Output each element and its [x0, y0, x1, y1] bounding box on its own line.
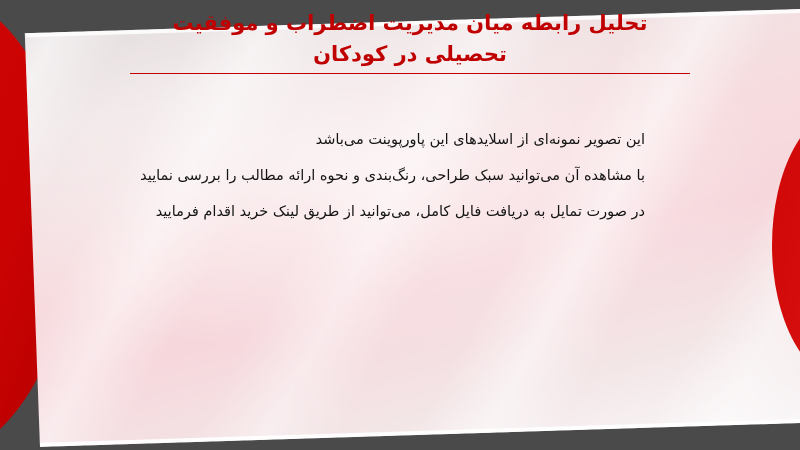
title-underline-rule — [130, 73, 690, 74]
slide-title-line-2: تحصیلی در کودکان — [120, 39, 700, 70]
slide-title: تحلیل رابطه میان مدیریت اضطراب و موفقیت … — [120, 8, 700, 70]
body-line-3: در صورت تمایل به دریافت فایل کامل، می‌تو… — [125, 194, 645, 230]
body-line-1: این تصویر نمونه‌ای از اسلایدهای این پاور… — [125, 122, 645, 158]
slide-title-line-1: تحلیل رابطه میان مدیریت اضطراب و موفقیت — [120, 8, 700, 39]
presentation-slide: تحلیل رابطه میان مدیریت اضطراب و موفقیت … — [0, 0, 800, 450]
body-line-2: با مشاهده آن می‌توانید سبک طراحی، رنگ‌بن… — [125, 158, 645, 194]
slide-body-text: این تصویر نمونه‌ای از اسلایدهای این پاور… — [125, 122, 645, 230]
